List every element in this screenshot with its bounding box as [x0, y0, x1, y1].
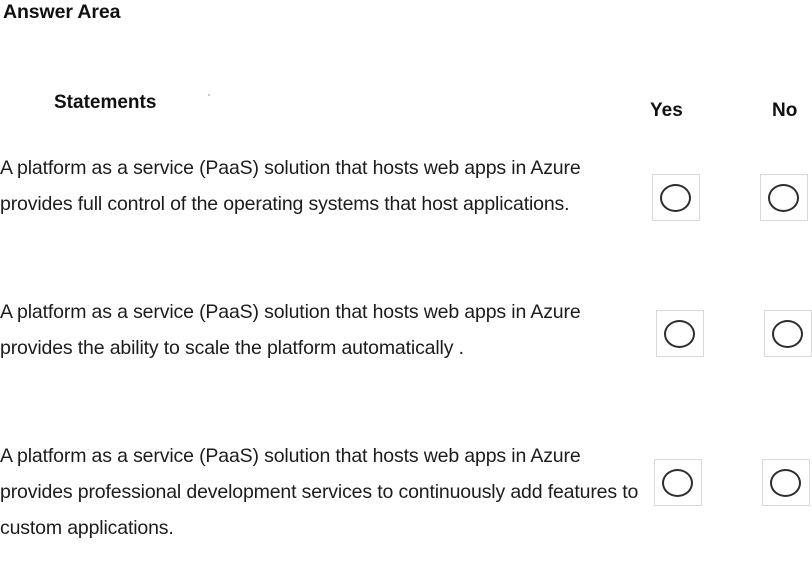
radio-yes-statement-2[interactable] — [656, 310, 704, 357]
header-speck-artifact — [208, 94, 210, 96]
page-title: Answer Area — [3, 0, 120, 24]
statement-text: A platform as a service (PaaS) solution … — [0, 294, 640, 366]
column-header-statements: Statements — [54, 90, 156, 116]
radio-unselected-icon — [772, 320, 803, 348]
table-header-row: Statements Yes No — [0, 88, 812, 128]
column-header-no: No — [772, 98, 797, 124]
radio-unselected-icon — [664, 320, 695, 348]
statement-text: A platform as a service (PaaS) solution … — [0, 150, 640, 222]
radio-no-statement-3[interactable] — [762, 459, 810, 506]
radio-yes-statement-1[interactable] — [652, 174, 700, 221]
radio-unselected-icon — [770, 469, 801, 497]
statement-text: A platform as a service (PaaS) solution … — [0, 438, 640, 546]
radio-unselected-icon — [662, 469, 693, 497]
radio-no-statement-1[interactable] — [760, 174, 808, 221]
column-header-yes: Yes — [650, 98, 683, 124]
answer-area-page: Answer Area Statements Yes No A platform… — [0, 0, 812, 581]
radio-unselected-icon — [660, 184, 691, 212]
radio-yes-statement-3[interactable] — [654, 459, 702, 506]
radio-no-statement-2[interactable] — [764, 310, 812, 357]
radio-unselected-icon — [768, 184, 799, 212]
